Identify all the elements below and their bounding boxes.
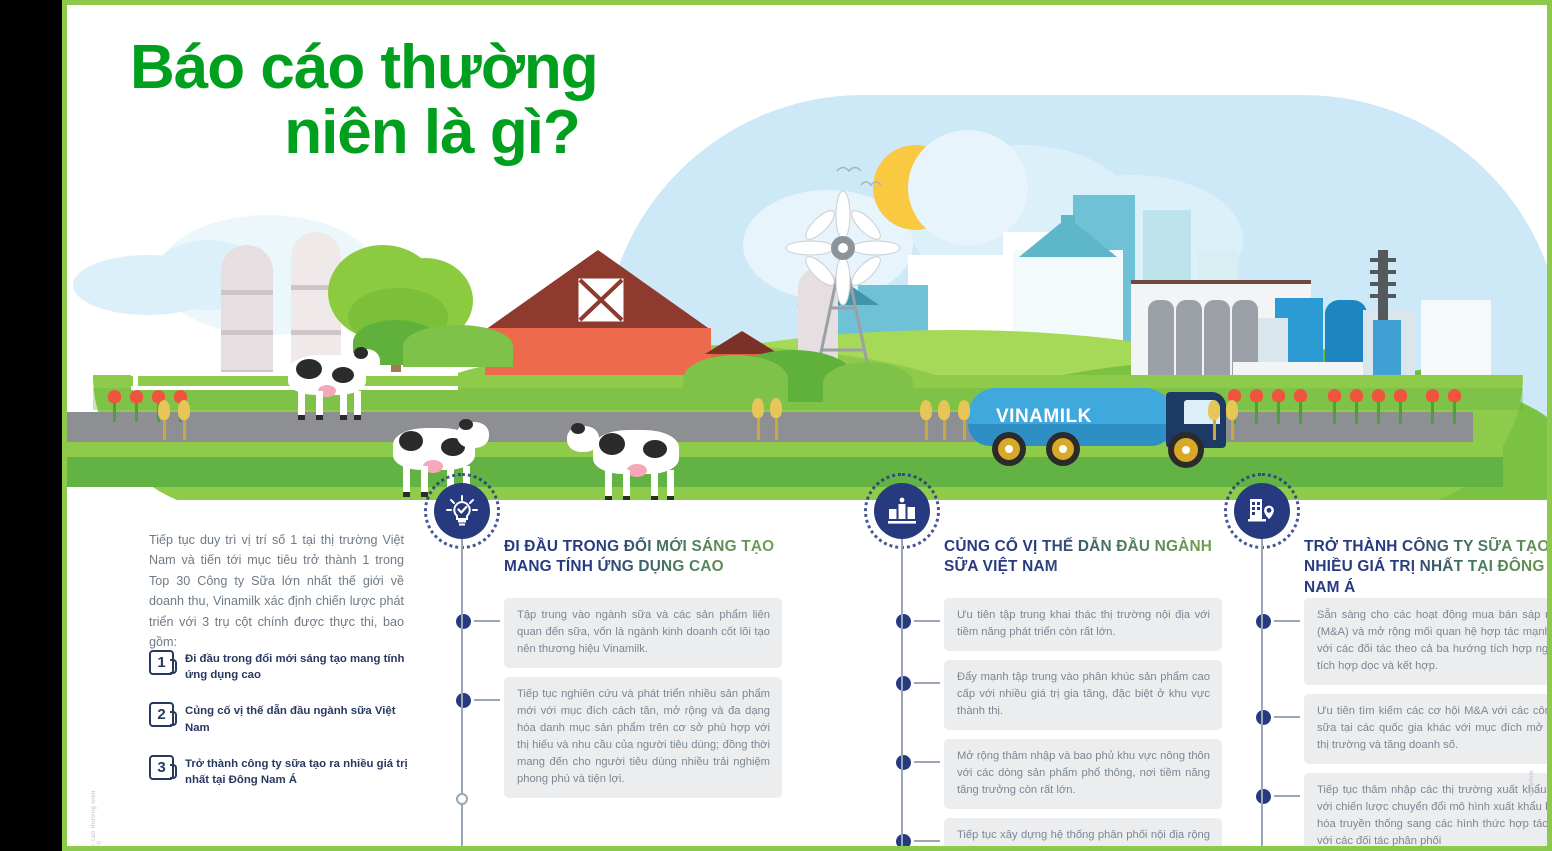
timeline-line — [1261, 535, 1263, 846]
strategy-card: Sẵn sàng cho các hoạt động mua bán sáp n… — [1304, 598, 1547, 685]
bush — [823, 362, 913, 404]
bush — [683, 355, 788, 403]
fence-post — [133, 362, 138, 392]
pillar-number-badge: 3 — [149, 755, 174, 780]
column-card-list: Sẵn sàng cho các hoạt động mua bán sáp n… — [1304, 598, 1547, 846]
pillar-number-badge: 1 — [149, 650, 174, 675]
bush — [403, 325, 513, 367]
silo-band — [291, 330, 341, 335]
pillar-number-badge: 2 — [149, 702, 174, 727]
podium-bar-chart-icon — [874, 483, 930, 539]
strategy-card: Tập trung vào ngành sữa và các sản phẩm … — [504, 598, 782, 668]
timeline-end-dot — [456, 793, 468, 805]
truck-wheel-hub — [1005, 445, 1013, 453]
pillar-label: Đi đầu trong đổi mới sáng tạo mang tính … — [185, 650, 419, 683]
strategy-column-1: ĐI ĐẦU TRONG ĐỔI MỚI SÁNG TẠO MANG TÍNH … — [422, 475, 782, 846]
truck-wheel-hub — [1059, 445, 1067, 453]
timeline-line — [901, 535, 903, 846]
truck-brand-label: VINAMILK — [996, 406, 1092, 428]
slide-root: VINAMILK — [0, 0, 1552, 851]
pillar-item: 1 Đi đầu trong đổi mới sáng tạo mang tín… — [149, 650, 419, 683]
strategy-column-2: CỦNG CỐ VỊ THẾ DẪN ĐẦU NGÀNH SỮA VIỆT NA… — [862, 475, 1222, 846]
road — [67, 412, 1473, 442]
factory-location-pin-icon — [1234, 483, 1290, 539]
birds-icon — [833, 155, 903, 195]
page-title-line-2: niên là gì? — [122, 100, 822, 165]
intro-paragraph: Tiếp tục duy trì vị trí số 1 tại thị trư… — [149, 530, 404, 652]
strategy-card: Mở rộng thâm nhập và bao phủ khu vực nôn… — [944, 739, 1222, 809]
green-bordered-frame: VINAMILK — [62, 0, 1552, 851]
chimney-ring — [1370, 258, 1396, 262]
column-heading: TRỞ THÀNH CÔNG TY SỮA TẠO RA NHIỀU GIÁ T… — [1304, 537, 1547, 598]
strategy-card: Tiếp tục xây dựng hệ thống phân phối nội… — [944, 818, 1222, 846]
strategy-column-3: TRỞ THÀNH CÔNG TY SỮA TẠO RA NHIỀU GIÁ T… — [1222, 475, 1547, 846]
lightbulb-check-icon — [434, 483, 490, 539]
right-side-caption: Vinamilk — [1529, 770, 1535, 797]
sun-cloud-overlap — [908, 130, 1028, 245]
slide-white-page: VINAMILK — [67, 5, 1547, 846]
column-card-list: Tập trung vào ngành sữa và các sản phẩm … — [504, 598, 782, 807]
strategy-card: Tiếp tục thâm nhập các thị trường xuất k… — [1304, 773, 1547, 846]
silo-band — [221, 290, 273, 295]
chimney-ring — [1370, 282, 1396, 286]
chimney-ring — [1370, 294, 1396, 298]
strategy-card: Tiếp tục nghiên cứu và phát triển nhiều … — [504, 677, 782, 798]
column-card-list: Ưu tiên tập trung khai thác thị trường n… — [944, 598, 1222, 846]
pillar-label: Trở thành công ty sữa tạo ra nhiều giá t… — [185, 755, 419, 788]
pillar-item: 2 Củng cố vị thế dẫn đầu ngành sữa Việt … — [149, 702, 419, 735]
strategy-card: Ưu tiên tập trung khai thác thị trường n… — [944, 598, 1222, 651]
truck-wheel-hub — [1182, 446, 1190, 454]
column-heading: ĐI ĐẦU TRONG ĐỔI MỚI SÁNG TẠO MANG TÍNH … — [504, 537, 784, 578]
page-title: Báo cáo thường niên là gì? — [122, 35, 822, 165]
chimney-ring — [1370, 270, 1396, 274]
city-hall-roof-icon — [1013, 215, 1123, 260]
strategy-content-area: Tiếp tục duy trì vị trí số 1 tại thị trư… — [67, 475, 1547, 846]
strategy-card: Ưu tiên tìm kiếm các cơ hội M&A với các … — [1304, 694, 1547, 764]
page-title-line-1: Báo cáo thường — [122, 35, 822, 100]
pillar-list: 1 Đi đầu trong đổi mới sáng tạo mang tín… — [149, 650, 419, 807]
column-heading: CỦNG CỐ VỊ THẾ DẪN ĐẦU NGÀNH SỮA VIỆT NA… — [944, 537, 1224, 578]
barn-hay-door-icon — [578, 278, 624, 322]
silo-band — [221, 330, 273, 335]
left-side-caption: Báo cáo thường niên 2020 — [91, 775, 103, 846]
pillar-item: 3 Trở thành công ty sữa tạo ra nhiều giá… — [149, 755, 419, 788]
strategy-card: Đẩy mạnh tập trung vào phân khúc sản phẩ… — [944, 660, 1222, 730]
pillar-label: Củng cố vị thế dẫn đầu ngành sữa Việt Na… — [185, 702, 419, 735]
